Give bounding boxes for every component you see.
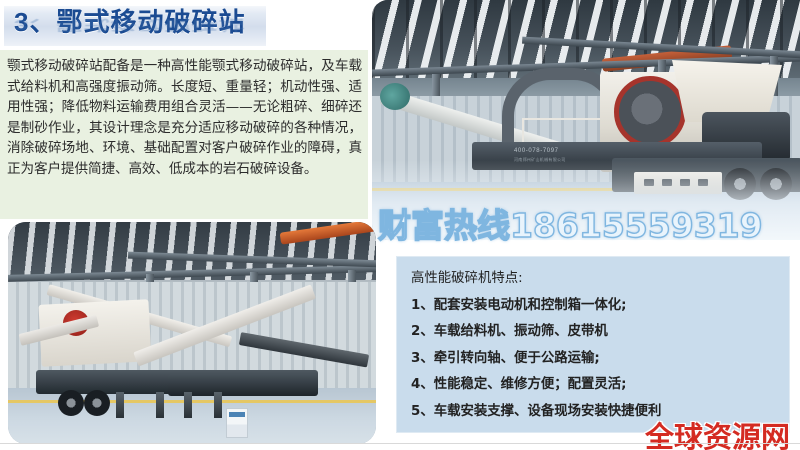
photo-mobile-screening-plant: [8, 222, 376, 444]
support-leg: [156, 392, 164, 418]
feature-item: 4、性能稳定、维修方便；配置灵活;: [411, 372, 781, 399]
trailer-wheel: [84, 390, 110, 416]
machine-decal-phone: 400-078-7097: [514, 148, 559, 154]
promo-page: 3、鄂式移动破碎站 3、鄂式移动破碎站 颚式移动破碎站配备是一种高性能颚式移动破…: [0, 0, 800, 450]
info-placard: [226, 408, 248, 438]
description-box: 颚式移动破碎站配备是一种高性能颚式移动破碎站，及车载式给料机和高强度振动筛。长度…: [0, 50, 368, 219]
support-leg: [214, 392, 222, 418]
feature-item: 2、车载给料机、振动筛、皮带机: [411, 319, 781, 346]
crusher-flywheel: [614, 76, 686, 148]
conveyor-drive-pulley: [380, 83, 410, 110]
description-text: 颚式移动破碎站配备是一种高性能颚式移动破碎站，及车载式给料机和高强度振动筛。长度…: [7, 56, 362, 180]
trailer-wheel: [58, 390, 84, 416]
feature-item: 1、配套安装电动机和控制箱一体化;: [411, 293, 781, 320]
hotline-banner: 财富热线18615559319: [378, 199, 798, 247]
page-bottom-divider: [0, 443, 800, 444]
photo-bl-scene: [8, 222, 376, 444]
page-title-reflection: 3、鄂式移动破碎站: [14, 17, 245, 34]
support-leg: [184, 392, 192, 418]
feature-item: 3、牵引转向轴、便于公路运输;: [411, 346, 781, 373]
feature-list-heading: 高性能破碎机特点:: [411, 266, 781, 293]
feature-list-panel: 高性能破碎机特点: 1、配套安装电动机和控制箱一体化; 2、车载给料机、振动筛、…: [396, 256, 790, 433]
placard-header-bar: [229, 412, 245, 417]
section-title-band: 3、鄂式移动破碎站 3、鄂式移动破碎站: [4, 6, 266, 46]
support-leg: [116, 392, 124, 418]
site-watermark: 全球资源网: [645, 414, 790, 450]
